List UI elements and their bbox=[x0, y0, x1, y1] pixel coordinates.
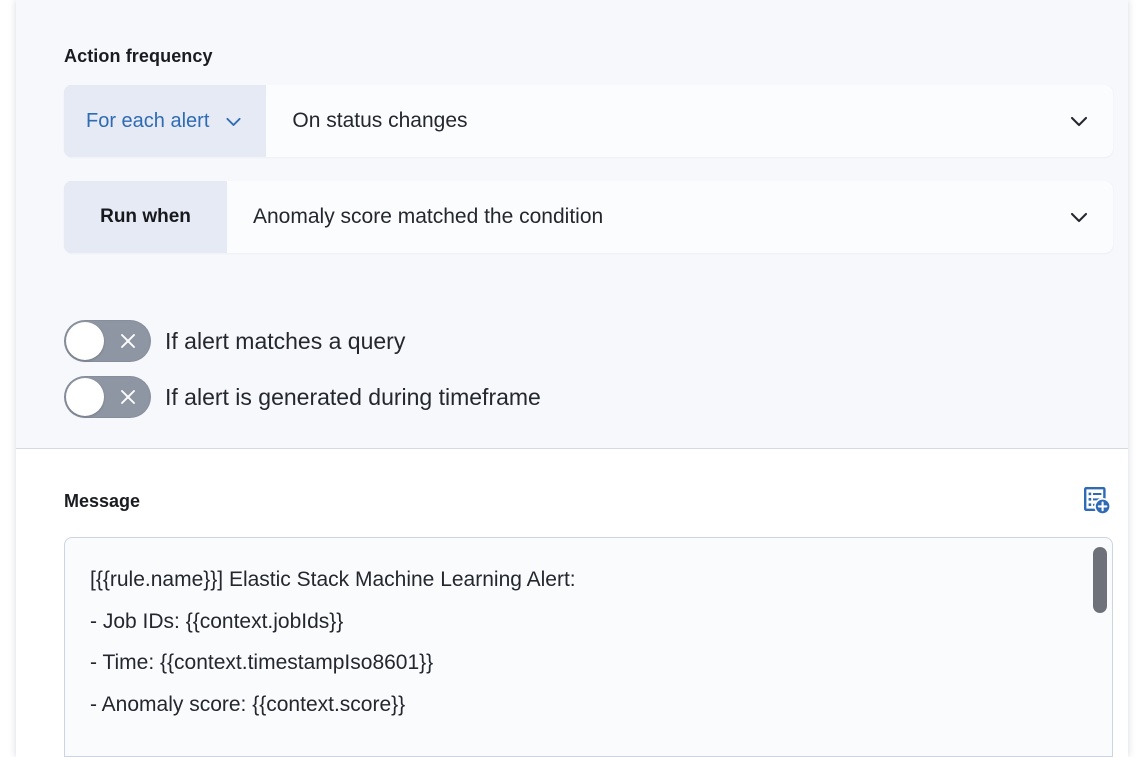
message-scrollbar-thumb[interactable] bbox=[1093, 547, 1107, 613]
run-when-select[interactable]: Anomaly score matched the condition bbox=[227, 181, 1113, 253]
run-when-control[interactable]: Run when Anomaly score matched the condi… bbox=[64, 181, 1113, 253]
status-changes-select[interactable]: On status changes bbox=[266, 85, 1113, 157]
screenshot-root: Action frequency For each alert On statu… bbox=[0, 0, 1145, 757]
cross-icon bbox=[118, 387, 138, 407]
message-title: Message bbox=[64, 491, 140, 512]
alert-matches-query-switch[interactable] bbox=[64, 320, 151, 362]
add-variable-icon[interactable] bbox=[1082, 485, 1112, 517]
toggle-row-alert-generated-during-timeframe[interactable]: If alert is generated during timeframe bbox=[64, 376, 541, 418]
run-when-label: Run when bbox=[100, 206, 191, 228]
run-when-prepend: Run when bbox=[64, 181, 227, 253]
run-when-value: Anomaly score matched the condition bbox=[253, 205, 603, 229]
message-textarea[interactable]: [{{rule.name}}] Elastic Stack Machine Le… bbox=[64, 537, 1113, 757]
message-header: Message bbox=[64, 486, 1112, 516]
status-changes-value: On status changes bbox=[292, 109, 467, 133]
for-each-alert-dropdown[interactable]: For each alert bbox=[64, 85, 266, 157]
action-frequency-control[interactable]: For each alert On status changes bbox=[64, 85, 1113, 157]
action-frequency-title: Action frequency bbox=[64, 46, 213, 67]
add-variable-icon-glyph bbox=[1083, 486, 1111, 516]
toggle-row-alert-matches-query[interactable]: If alert matches a query bbox=[64, 320, 405, 362]
action-frequency-section: Action frequency For each alert On statu… bbox=[16, 0, 1128, 449]
switch-knob bbox=[66, 378, 104, 416]
cross-icon bbox=[118, 331, 138, 351]
chevron-down-icon bbox=[1067, 205, 1091, 229]
action-settings-panel: Action frequency For each alert On statu… bbox=[16, 0, 1128, 757]
alert-timeframe-label: If alert is generated during timeframe bbox=[165, 384, 541, 411]
alert-matches-query-label: If alert matches a query bbox=[165, 328, 405, 355]
message-scrollbar[interactable] bbox=[1093, 543, 1107, 751]
for-each-alert-label: For each alert bbox=[86, 110, 209, 133]
chevron-down-icon bbox=[1067, 109, 1091, 133]
chevron-down-icon bbox=[223, 111, 244, 132]
message-textarea-value: [{{rule.name}}] Elastic Stack Machine Le… bbox=[90, 559, 1073, 725]
alert-timeframe-switch[interactable] bbox=[64, 376, 151, 418]
switch-knob bbox=[66, 322, 104, 360]
